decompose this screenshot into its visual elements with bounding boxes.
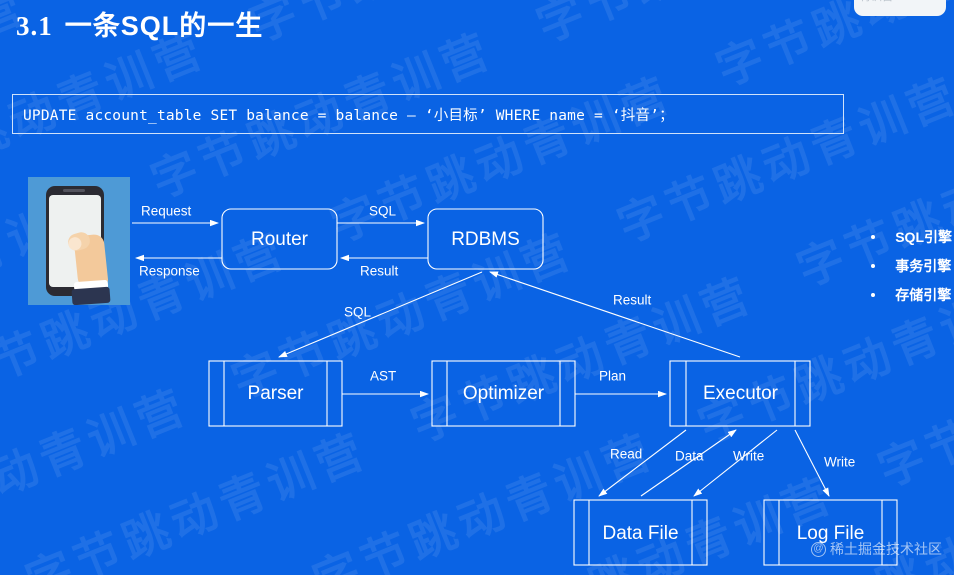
bullet-dot-icon bbox=[871, 293, 875, 297]
edge-request-label: Request bbox=[141, 204, 192, 219]
edge-read bbox=[599, 430, 686, 496]
node-data-file-label: Data File bbox=[602, 523, 678, 544]
sql-statement-box: UPDATE account_table SET balance = balan… bbox=[12, 94, 844, 134]
corner-pill: 青训营 bbox=[854, 0, 946, 16]
edge-result-executor-rdbms-label: Result bbox=[613, 293, 652, 308]
corner-pill-label: 青训营 bbox=[854, 0, 946, 4]
hand-tapping-icon bbox=[68, 229, 112, 301]
edge-sql-router-rdbms-label: SQL bbox=[369, 204, 397, 219]
node-optimizer-label: Optimizer bbox=[463, 383, 545, 404]
at-sign-icon: @ bbox=[811, 542, 826, 557]
edge-sql-rdbms-parser bbox=[279, 272, 482, 357]
hand-fingertip bbox=[67, 236, 83, 252]
edge-data-label: Data bbox=[675, 449, 704, 464]
engine-list-item-storage-label: 存储引擎 bbox=[895, 285, 951, 305]
edge-plan-label: Plan bbox=[599, 369, 626, 384]
engine-list-item-storage[interactable]: 存储引擎 bbox=[871, 280, 952, 309]
edge-sql-rdbms-parser-label: SQL bbox=[344, 305, 372, 320]
page-title: 3.1一条SQL的一生 bbox=[16, 4, 263, 43]
client-phone-image bbox=[28, 177, 130, 305]
community-watermark: @ 稀土掘金技术社区 bbox=[811, 539, 942, 559]
engine-list-item-transaction-label: 事务引擎 bbox=[895, 256, 951, 276]
edge-write-log-file-label: Write bbox=[824, 455, 855, 470]
edge-result-rdbms-router-label: Result bbox=[360, 264, 399, 279]
sql-statement-text: UPDATE account_table SET balance = balan… bbox=[13, 104, 674, 125]
engine-list: SQL引擎 事务引擎 存储引擎 bbox=[871, 222, 952, 309]
suit-sleeve bbox=[71, 287, 110, 305]
sql-lifecycle-diagram: Router RDBMS Parser Optimizer Executor bbox=[0, 0, 954, 575]
slide-canvas: 字节跳动青训营 字节跳动青训营 字节跳动青训营 字节跳动青训营 字节跳动青训营 … bbox=[0, 0, 954, 575]
node-executor-label: Executor bbox=[703, 383, 779, 404]
node-rdbms-label: RDBMS bbox=[451, 229, 520, 250]
bullet-dot-icon bbox=[871, 235, 875, 239]
edge-read-label: Read bbox=[610, 447, 642, 462]
edge-write-data-file-label: Write bbox=[733, 449, 764, 464]
page-title-number: 3.1 bbox=[16, 11, 53, 41]
edge-result-executor-rdbms bbox=[490, 272, 740, 357]
engine-list-item-transaction[interactable]: 事务引擎 bbox=[871, 251, 952, 280]
engine-list-item-sql-label: SQL引擎 bbox=[895, 227, 952, 247]
node-router-label: Router bbox=[251, 229, 309, 250]
edge-response-label: Response bbox=[139, 264, 200, 279]
page-title-text: 一条SQL的一生 bbox=[65, 11, 264, 41]
engine-list-item-sql[interactable]: SQL引擎 bbox=[871, 222, 952, 251]
community-watermark-label: 稀土掘金技术社区 bbox=[830, 539, 942, 559]
node-parser-label: Parser bbox=[248, 383, 305, 404]
bullet-dot-icon bbox=[871, 264, 875, 268]
phone-speaker bbox=[63, 189, 85, 192]
edge-ast-label: AST bbox=[370, 369, 396, 384]
